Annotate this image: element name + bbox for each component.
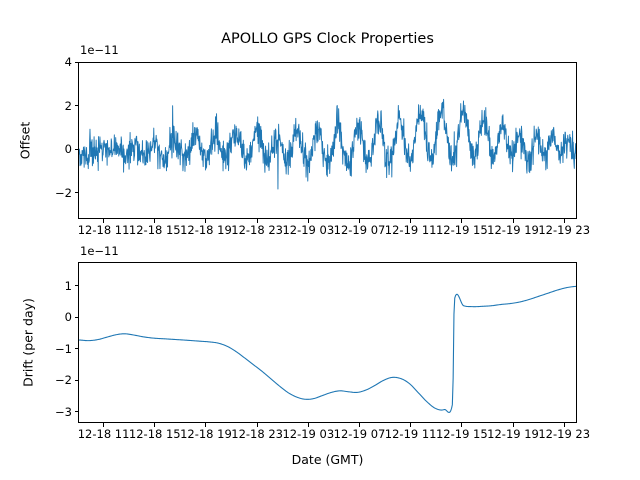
- drift-xtick-mark: [564, 423, 565, 427]
- offset-xtick-label: 12-19 07: [334, 224, 386, 237]
- drift-xtick-mark: [257, 423, 258, 427]
- drift-ytick-label: −1: [32, 343, 72, 355]
- offset-series-line: [79, 63, 576, 218]
- drift-xtick-label: 12-18 11: [78, 428, 130, 441]
- drift-ytick-mark: [75, 380, 79, 381]
- drift-xtick-label: 12-19 03: [282, 428, 334, 441]
- offset-ytick-mark: [75, 62, 79, 63]
- offset-plot-axes: [78, 62, 577, 219]
- offset-xtick-mark: [257, 219, 258, 223]
- drift-ytick-label: 1: [32, 280, 72, 292]
- drift-panel-exponent-label: 1e−11: [80, 245, 119, 258]
- drift-xtick-labels: 12-18 1112-18 1512-18 1912-18 2312-19 03…: [0, 428, 640, 444]
- drift-xtick-label: 12-18 23: [231, 428, 283, 441]
- drift-xtick-label: 12-19 15: [436, 428, 488, 441]
- offset-xtick-label: 12-19 11: [385, 224, 437, 237]
- offset-ytick-mark: [75, 192, 79, 193]
- drift-ytick-mark: [75, 317, 79, 318]
- drift-xtick-label: 12-18 19: [180, 428, 232, 441]
- drift-xtick-mark: [513, 423, 514, 427]
- offset-xtick-mark: [308, 219, 309, 223]
- offset-ytick-label: 0: [32, 143, 72, 155]
- offset-xtick-mark: [410, 219, 411, 223]
- drift-xtick-mark: [410, 423, 411, 427]
- offset-xtick-label: 12-19 23: [538, 224, 590, 237]
- offset-ytick-labels: 420−2: [32, 62, 72, 219]
- drift-xtick-mark: [308, 423, 309, 427]
- drift-plot-axes: [78, 262, 577, 423]
- drift-xtick-label: 12-19 07: [334, 428, 386, 441]
- offset-xtick-label: 12-19 03: [282, 224, 334, 237]
- drift-xtick-mark: [359, 423, 360, 427]
- offset-ytick-label: −2: [32, 187, 72, 199]
- offset-ytick-mark: [75, 149, 79, 150]
- offset-ytick-label: 4: [32, 56, 72, 68]
- offset-xtick-mark: [154, 219, 155, 223]
- drift-axis-label: Drift (per day): [21, 273, 36, 413]
- offset-xtick-mark: [103, 219, 104, 223]
- drift-series-line: [79, 263, 576, 422]
- drift-xtick-label: 12-19 23: [538, 428, 590, 441]
- drift-ytick-mark: [75, 285, 79, 286]
- offset-axis-label: Offset: [18, 91, 33, 191]
- offset-xtick-label: 12-19 15: [436, 224, 488, 237]
- chart-title: APOLLO GPS Clock Properties: [78, 30, 577, 48]
- offset-ytick-mark: [75, 105, 79, 106]
- drift-xtick-label: 12-19 11: [385, 428, 437, 441]
- matplotlib-figure: APOLLO GPS Clock Properties 1e−11 420−2 …: [0, 0, 640, 480]
- drift-ytick-label: −3: [32, 406, 72, 418]
- drift-xtick-mark: [461, 423, 462, 427]
- offset-panel-exponent-label: 1e−11: [80, 44, 119, 57]
- offset-xtick-mark: [513, 219, 514, 223]
- offset-xtick-label: 12-18 15: [129, 224, 181, 237]
- offset-xtick-label: 12-18 23: [231, 224, 283, 237]
- drift-ytick-labels: 10−1−2−3: [32, 262, 72, 423]
- drift-ytick-mark: [75, 348, 79, 349]
- offset-xtick-label: 12-18 11: [78, 224, 130, 237]
- offset-xtick-mark: [564, 219, 565, 223]
- drift-xtick-label: 12-18 15: [129, 428, 181, 441]
- drift-xtick-mark: [103, 423, 104, 427]
- offset-xtick-mark: [359, 219, 360, 223]
- offset-xtick-mark: [461, 219, 462, 223]
- offset-xtick-mark: [205, 219, 206, 223]
- drift-xtick-label: 12-19 19: [487, 428, 539, 441]
- drift-ytick-label: 0: [32, 311, 72, 323]
- offset-xtick-label: 12-18 19: [180, 224, 232, 237]
- drift-xtick-mark: [154, 423, 155, 427]
- drift-ytick-label: −2: [32, 374, 72, 386]
- drift-ytick-mark: [75, 411, 79, 412]
- offset-xtick-labels: 12-18 1112-18 1512-18 1912-18 2312-19 03…: [0, 224, 640, 240]
- x-axis-label: Date (GMT): [78, 452, 577, 467]
- offset-xtick-label: 12-19 19: [487, 224, 539, 237]
- drift-xtick-mark: [205, 423, 206, 427]
- offset-ytick-label: 2: [32, 100, 72, 112]
